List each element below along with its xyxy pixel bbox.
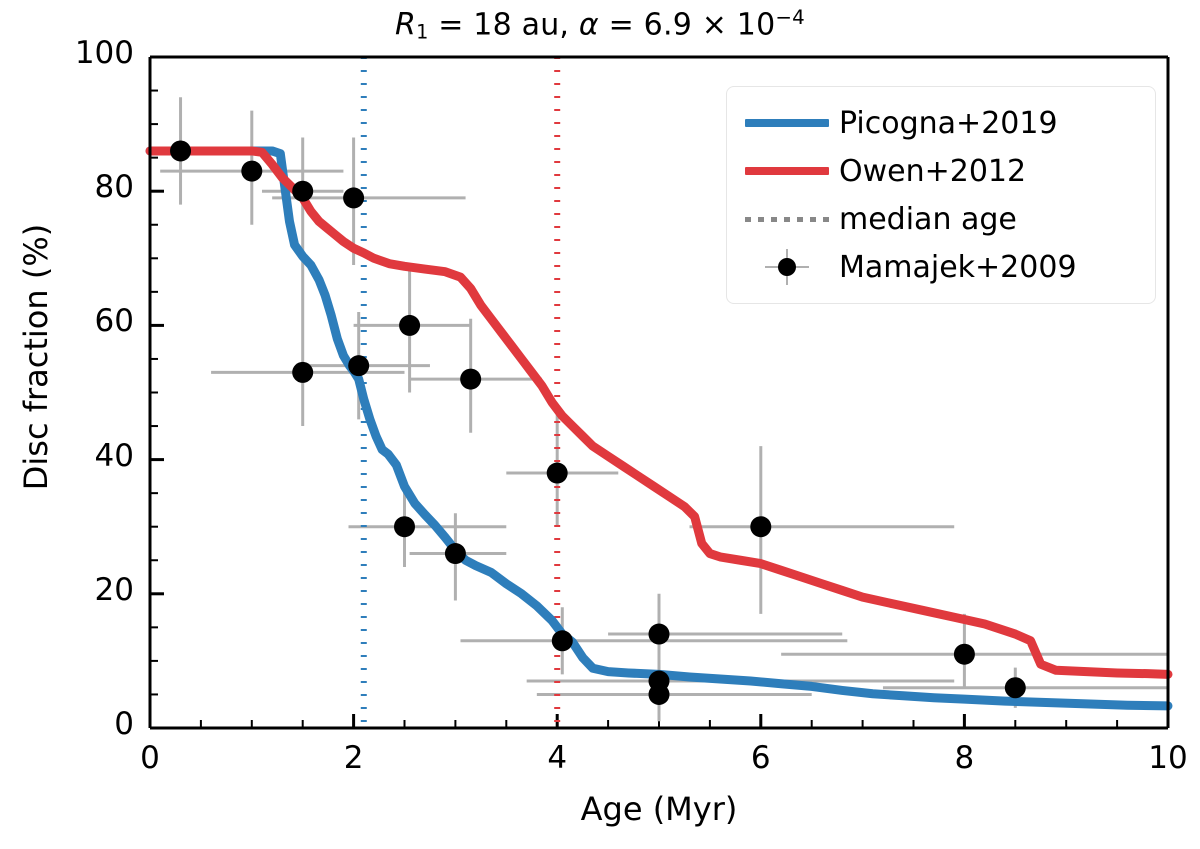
y-tick-label-5: 100 (0, 35, 134, 71)
legend-label-mamajek: Mamajek+2009 (835, 250, 1077, 285)
y-tick-label-3: 60 (0, 303, 134, 339)
legend-item-picogna: Picogna+2019 (739, 99, 1141, 147)
legend-swatch-owen (739, 147, 835, 195)
y-tick-label-1: 20 (0, 572, 134, 608)
x-tick-label-3: 6 (701, 740, 821, 776)
legend-swatch-picogna (739, 99, 835, 147)
x-tick-label-2: 4 (497, 740, 617, 776)
chart-legend: Picogna+2019 Owen+2012 median age Mamaje… (726, 86, 1156, 304)
median-age-lines (364, 57, 557, 728)
legend-label-picogna: Picogna+2019 (835, 106, 1058, 141)
legend-item-mamajek: Mamajek+2009 (739, 243, 1141, 291)
legend-item-median-age: median age (739, 195, 1141, 243)
y-tick-label-4: 80 (0, 169, 134, 205)
x-axis-label: Age (Myr) (150, 790, 1168, 828)
legend-swatch-median-age (739, 195, 835, 243)
legend-label-owen: Owen+2012 (835, 154, 1026, 189)
x-tick-label-5: 10 (1108, 740, 1200, 776)
legend-label-median-age: median age (835, 202, 1017, 237)
x-tick-label-1: 2 (294, 740, 414, 776)
legend-item-owen: Owen+2012 (739, 147, 1141, 195)
legend-swatch-mamajek (739, 243, 835, 291)
x-tick-label-0: 0 (90, 740, 210, 776)
y-tick-label-2: 40 (0, 438, 134, 474)
y-tick-label-0: 0 (0, 706, 134, 742)
chart-figure: R1 = 18 au, α = 6.9 × 10−4 Disc fraction… (0, 0, 1200, 849)
x-tick-label-4: 8 (904, 740, 1024, 776)
